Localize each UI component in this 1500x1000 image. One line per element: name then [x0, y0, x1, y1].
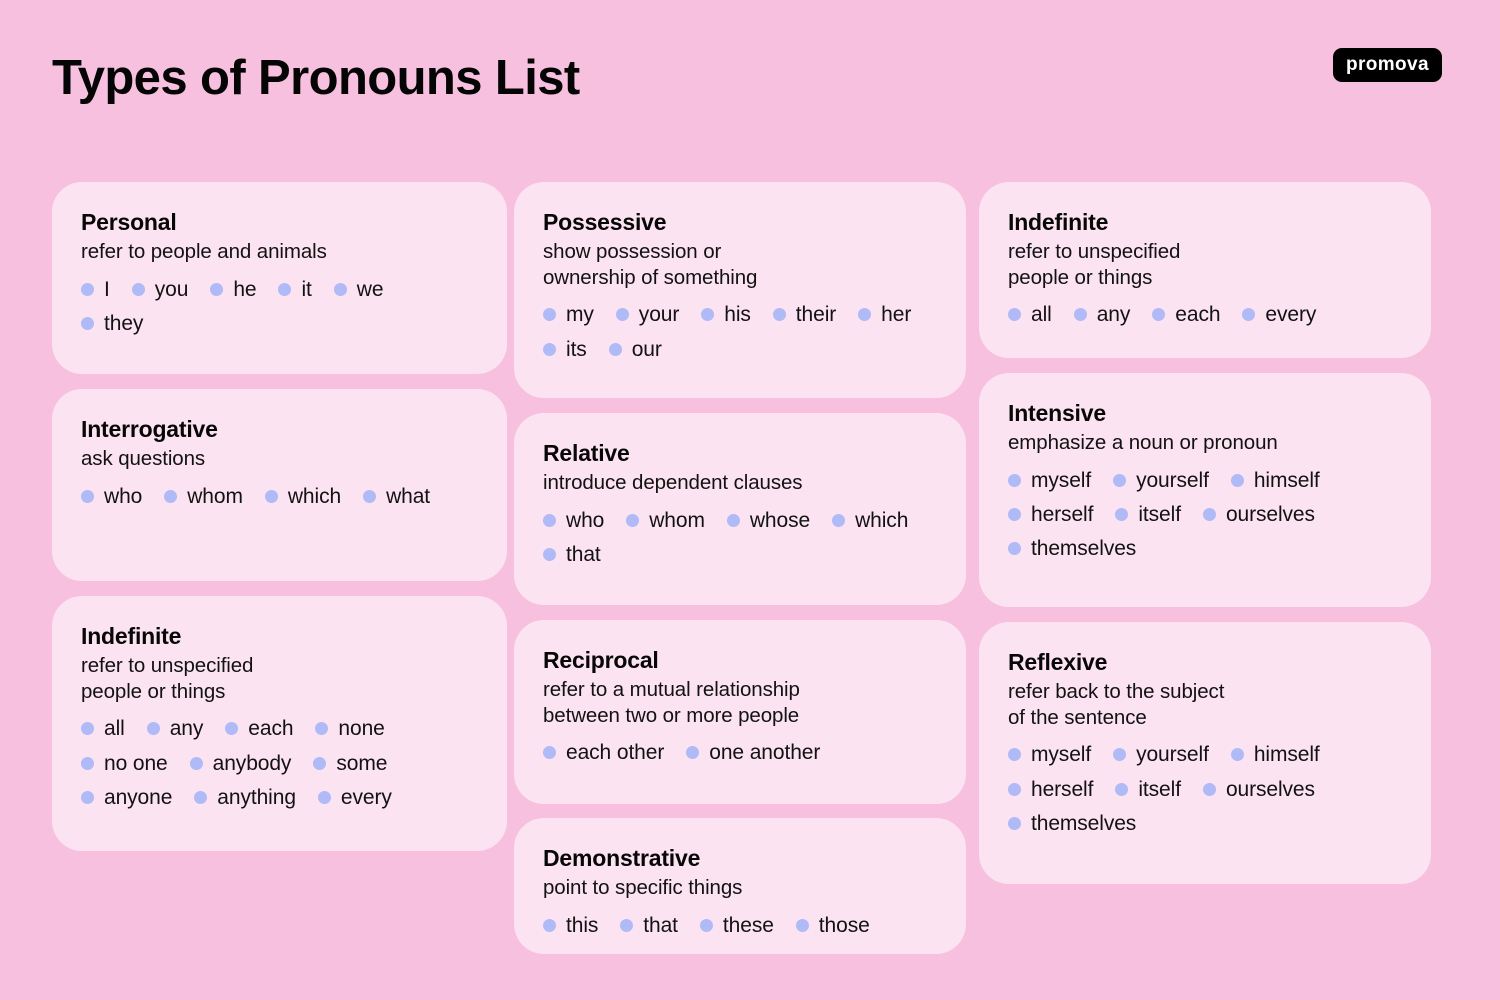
pronoun-chip: any	[1074, 303, 1131, 326]
infographic-page: Types of Pronouns List promova Personal …	[0, 0, 1500, 1000]
pronoun-chip: themselves	[1008, 812, 1136, 835]
pronoun-list: each otherone another	[543, 741, 938, 764]
pronoun-chip: no one	[81, 752, 168, 775]
pronoun-chip: myself	[1008, 469, 1091, 492]
pronoun-chip: itself	[1115, 503, 1181, 526]
card-title: Reciprocal	[543, 646, 938, 675]
pronoun-chip: this	[543, 914, 598, 937]
pronoun-chip: herself	[1008, 503, 1093, 526]
bullet-dot-icon	[543, 308, 556, 321]
pronoun-label: all	[104, 717, 125, 740]
bullet-dot-icon	[313, 757, 326, 770]
bullet-dot-icon	[334, 283, 347, 296]
page-title: Types of Pronouns List	[52, 52, 580, 106]
pronoun-label: that	[566, 543, 601, 566]
card-description: refer to unspecified people or things	[1008, 239, 1403, 291]
card-reflexive: Reflexive refer back to the subject of t…	[979, 622, 1431, 884]
card-title: Reflexive	[1008, 648, 1403, 677]
pronoun-list: thisthatthesethose	[543, 914, 938, 937]
bullet-dot-icon	[616, 308, 629, 321]
card-indefinite-right: Indefinite refer to unspecified people o…	[979, 182, 1431, 358]
pronoun-label: yourself	[1136, 469, 1209, 492]
bullet-dot-icon	[1115, 508, 1128, 521]
pronoun-chip: all	[1008, 303, 1052, 326]
bullet-dot-icon	[81, 317, 94, 330]
pronoun-chip: each other	[543, 741, 664, 764]
bullet-dot-icon	[1113, 474, 1126, 487]
bullet-dot-icon	[1008, 748, 1021, 761]
pronoun-label: who	[104, 485, 142, 508]
card-title: Interrogative	[81, 415, 479, 444]
pronoun-chip: we	[334, 278, 384, 301]
bullet-dot-icon	[1231, 474, 1244, 487]
bullet-dot-icon	[1242, 308, 1255, 321]
card-title: Demonstrative	[543, 844, 938, 873]
pronoun-chip: my	[543, 303, 594, 326]
bullet-dot-icon	[620, 919, 633, 932]
bullet-dot-icon	[700, 919, 713, 932]
card-title: Indefinite	[1008, 208, 1403, 237]
pronoun-chip: whom	[626, 509, 705, 532]
bullet-dot-icon	[132, 283, 145, 296]
pronoun-list: whowhomwhosewhichthat	[543, 509, 938, 566]
pronoun-label: whom	[187, 485, 243, 508]
pronoun-label: we	[357, 278, 384, 301]
pronoun-list: myselfyourselfhimselfherselfitselfoursel…	[1008, 469, 1403, 560]
pronoun-label: no one	[104, 752, 168, 775]
pronoun-label: anything	[217, 786, 296, 809]
pronoun-label: this	[566, 914, 598, 937]
pronoun-chip: he	[210, 278, 256, 301]
bullet-dot-icon	[1008, 783, 1021, 796]
card-indefinite-left: Indefinite refer to unspecified people o…	[52, 596, 507, 851]
bullet-dot-icon	[1203, 508, 1216, 521]
card-title: Possessive	[543, 208, 938, 237]
pronoun-chip: his	[701, 303, 751, 326]
pronoun-label: anyone	[104, 786, 172, 809]
pronoun-chip: every	[318, 786, 392, 809]
card-title: Intensive	[1008, 399, 1403, 428]
pronoun-chip: any	[147, 717, 204, 740]
card-intensive: Intensive emphasize a noun or pronoun my…	[979, 373, 1431, 607]
pronoun-chip: who	[81, 485, 142, 508]
pronoun-chip: some	[313, 752, 387, 775]
pronoun-chip: who	[543, 509, 604, 532]
card-title: Relative	[543, 439, 938, 468]
bullet-dot-icon	[1008, 542, 1021, 555]
pronoun-chip: all	[81, 717, 125, 740]
pronoun-chip: whom	[164, 485, 243, 508]
pronoun-chip: that	[620, 914, 678, 937]
pronoun-list: myselfyourselfhimselfherselfitselfoursel…	[1008, 743, 1403, 834]
pronoun-label: all	[1031, 303, 1052, 326]
pronoun-label: his	[724, 303, 751, 326]
card-interrogative: Interrogative ask questions whowhomwhich…	[52, 389, 507, 581]
bullet-dot-icon	[858, 308, 871, 321]
bullet-dot-icon	[225, 722, 238, 735]
bullet-dot-icon	[1152, 308, 1165, 321]
card-description: point to specific things	[543, 875, 938, 901]
pronoun-label: itself	[1138, 503, 1181, 526]
pronoun-chip: themselves	[1008, 537, 1136, 560]
pronoun-list: allanyeachevery	[1008, 303, 1403, 326]
pronoun-chip: their	[773, 303, 836, 326]
pronoun-chip: you	[132, 278, 189, 301]
card-description: refer to unspecified people or things	[81, 653, 479, 705]
pronoun-label: who	[566, 509, 604, 532]
pronoun-label: itself	[1138, 778, 1181, 801]
pronoun-chip: ourselves	[1203, 778, 1315, 801]
pronoun-label: himself	[1254, 743, 1320, 766]
bullet-dot-icon	[1231, 748, 1244, 761]
bullet-dot-icon	[278, 283, 291, 296]
pronoun-label: themselves	[1031, 812, 1136, 835]
pronoun-chip: myself	[1008, 743, 1091, 766]
pronoun-label: myself	[1031, 469, 1091, 492]
card-relative: Relative introduce dependent clauses who…	[514, 413, 966, 605]
bullet-dot-icon	[1113, 748, 1126, 761]
bullet-dot-icon	[686, 746, 699, 759]
pronoun-chip: whose	[727, 509, 810, 532]
pronoun-label: her	[881, 303, 911, 326]
pronoun-chip: which	[832, 509, 908, 532]
pronoun-chip: ourselves	[1203, 503, 1315, 526]
pronoun-chip: himself	[1231, 743, 1320, 766]
bullet-dot-icon	[81, 791, 94, 804]
bullet-dot-icon	[727, 514, 740, 527]
pronoun-label: these	[723, 914, 774, 937]
pronoun-chip: none	[315, 717, 384, 740]
bullet-dot-icon	[147, 722, 160, 735]
pronoun-chip: your	[616, 303, 679, 326]
pronoun-chip: they	[81, 312, 143, 335]
bullet-dot-icon	[543, 548, 556, 561]
pronoun-label: it	[301, 278, 311, 301]
pronoun-label: anybody	[213, 752, 292, 775]
bullet-dot-icon	[1203, 783, 1216, 796]
pronoun-chip: itself	[1115, 778, 1181, 801]
pronoun-label: one another	[709, 741, 820, 764]
card-description: refer back to the subject of the sentenc…	[1008, 679, 1403, 731]
pronoun-chip: its	[543, 338, 587, 361]
card-title: Personal	[81, 208, 479, 237]
pronoun-label: their	[796, 303, 836, 326]
bullet-dot-icon	[265, 490, 278, 503]
pronoun-label: each	[248, 717, 293, 740]
bullet-dot-icon	[190, 757, 203, 770]
bullet-dot-icon	[1074, 308, 1087, 321]
card-reciprocal: Reciprocal refer to a mutual relationshi…	[514, 620, 966, 804]
pronoun-label: my	[566, 303, 594, 326]
pronoun-chip: it	[278, 278, 311, 301]
pronoun-label: every	[341, 786, 392, 809]
pronoun-label: that	[643, 914, 678, 937]
bullet-dot-icon	[363, 490, 376, 503]
bullet-dot-icon	[543, 514, 556, 527]
pronoun-chip: herself	[1008, 778, 1093, 801]
pronoun-chip: anything	[194, 786, 296, 809]
card-description: refer to people and animals	[81, 239, 479, 265]
pronoun-list: whowhomwhichwhat	[81, 485, 479, 508]
pronoun-chip: our	[609, 338, 662, 361]
bullet-dot-icon	[832, 514, 845, 527]
card-demonstrative: Demonstrative point to specific things t…	[514, 818, 966, 954]
pronoun-chip: each	[225, 717, 293, 740]
pronoun-label: any	[1097, 303, 1131, 326]
pronoun-label: none	[338, 717, 384, 740]
pronoun-label: himself	[1254, 469, 1320, 492]
pronoun-chip: anybody	[190, 752, 292, 775]
card-description: ask questions	[81, 446, 479, 472]
card-personal: Personal refer to people and animals Iyo…	[52, 182, 507, 374]
pronoun-label: I	[104, 278, 110, 301]
promova-logo: promova	[1333, 48, 1442, 82]
pronoun-label: what	[386, 485, 430, 508]
bullet-dot-icon	[81, 757, 94, 770]
bullet-dot-icon	[543, 919, 556, 932]
bullet-dot-icon	[1008, 308, 1021, 321]
card-description: refer to a mutual relationship between t…	[543, 677, 938, 729]
bullet-dot-icon	[210, 283, 223, 296]
bullet-dot-icon	[194, 791, 207, 804]
bullet-dot-icon	[1008, 508, 1021, 521]
pronoun-label: whose	[750, 509, 810, 532]
card-possessive: Possessive show possession or ownership …	[514, 182, 966, 398]
bullet-dot-icon	[315, 722, 328, 735]
pronoun-list: myyourhistheirheritsour	[543, 303, 938, 360]
pronoun-chip: those	[796, 914, 870, 937]
bullet-dot-icon	[609, 343, 622, 356]
pronoun-label: each other	[566, 741, 664, 764]
pronoun-label: its	[566, 338, 587, 361]
pronoun-chip: these	[700, 914, 774, 937]
pronoun-label: which	[288, 485, 341, 508]
pronoun-chip: anyone	[81, 786, 172, 809]
pronoun-label: whom	[649, 509, 705, 532]
pronoun-label: some	[336, 752, 387, 775]
pronoun-label: themselves	[1031, 537, 1136, 560]
pronoun-label: any	[170, 717, 204, 740]
pronoun-label: they	[104, 312, 143, 335]
bullet-dot-icon	[1008, 817, 1021, 830]
pronoun-chip: each	[1152, 303, 1220, 326]
card-description: emphasize a noun or pronoun	[1008, 430, 1403, 456]
pronoun-label: you	[155, 278, 189, 301]
bullet-dot-icon	[318, 791, 331, 804]
card-description: show possession or ownership of somethin…	[543, 239, 938, 291]
bullet-dot-icon	[1115, 783, 1128, 796]
pronoun-label: yourself	[1136, 743, 1209, 766]
pronoun-label: each	[1175, 303, 1220, 326]
pronoun-chip: every	[1242, 303, 1316, 326]
bullet-dot-icon	[164, 490, 177, 503]
pronoun-chip: one another	[686, 741, 820, 764]
bullet-dot-icon	[543, 746, 556, 759]
pronoun-label: he	[233, 278, 256, 301]
pronoun-chip: himself	[1231, 469, 1320, 492]
pronoun-chip: which	[265, 485, 341, 508]
pronoun-label: herself	[1031, 503, 1093, 526]
bullet-dot-icon	[81, 283, 94, 296]
bullet-dot-icon	[773, 308, 786, 321]
bullet-dot-icon	[701, 308, 714, 321]
bullet-dot-icon	[796, 919, 809, 932]
pronoun-chip: what	[363, 485, 430, 508]
bullet-dot-icon	[626, 514, 639, 527]
pronoun-list: Iyouheitwethey	[81, 278, 479, 335]
bullet-dot-icon	[1008, 474, 1021, 487]
pronoun-label: herself	[1031, 778, 1093, 801]
pronoun-chip: I	[81, 278, 110, 301]
pronoun-chip: yourself	[1113, 469, 1209, 492]
bullet-dot-icon	[81, 722, 94, 735]
pronoun-label: myself	[1031, 743, 1091, 766]
pronoun-label: your	[639, 303, 679, 326]
pronoun-label: which	[855, 509, 908, 532]
pronoun-chip: yourself	[1113, 743, 1209, 766]
card-title: Indefinite	[81, 622, 479, 651]
card-description: introduce dependent clauses	[543, 470, 938, 496]
pronoun-list: allanyeachnoneno oneanybodysomeanyoneany…	[81, 717, 479, 808]
brand-logo-label: promova	[1346, 55, 1429, 74]
pronoun-label: ourselves	[1226, 778, 1315, 801]
bullet-dot-icon	[81, 490, 94, 503]
pronoun-chip: that	[543, 543, 601, 566]
pronoun-label: every	[1265, 303, 1316, 326]
pronoun-chip: her	[858, 303, 911, 326]
pronoun-label: ourselves	[1226, 503, 1315, 526]
pronoun-label: those	[819, 914, 870, 937]
bullet-dot-icon	[543, 343, 556, 356]
pronoun-label: our	[632, 338, 662, 361]
